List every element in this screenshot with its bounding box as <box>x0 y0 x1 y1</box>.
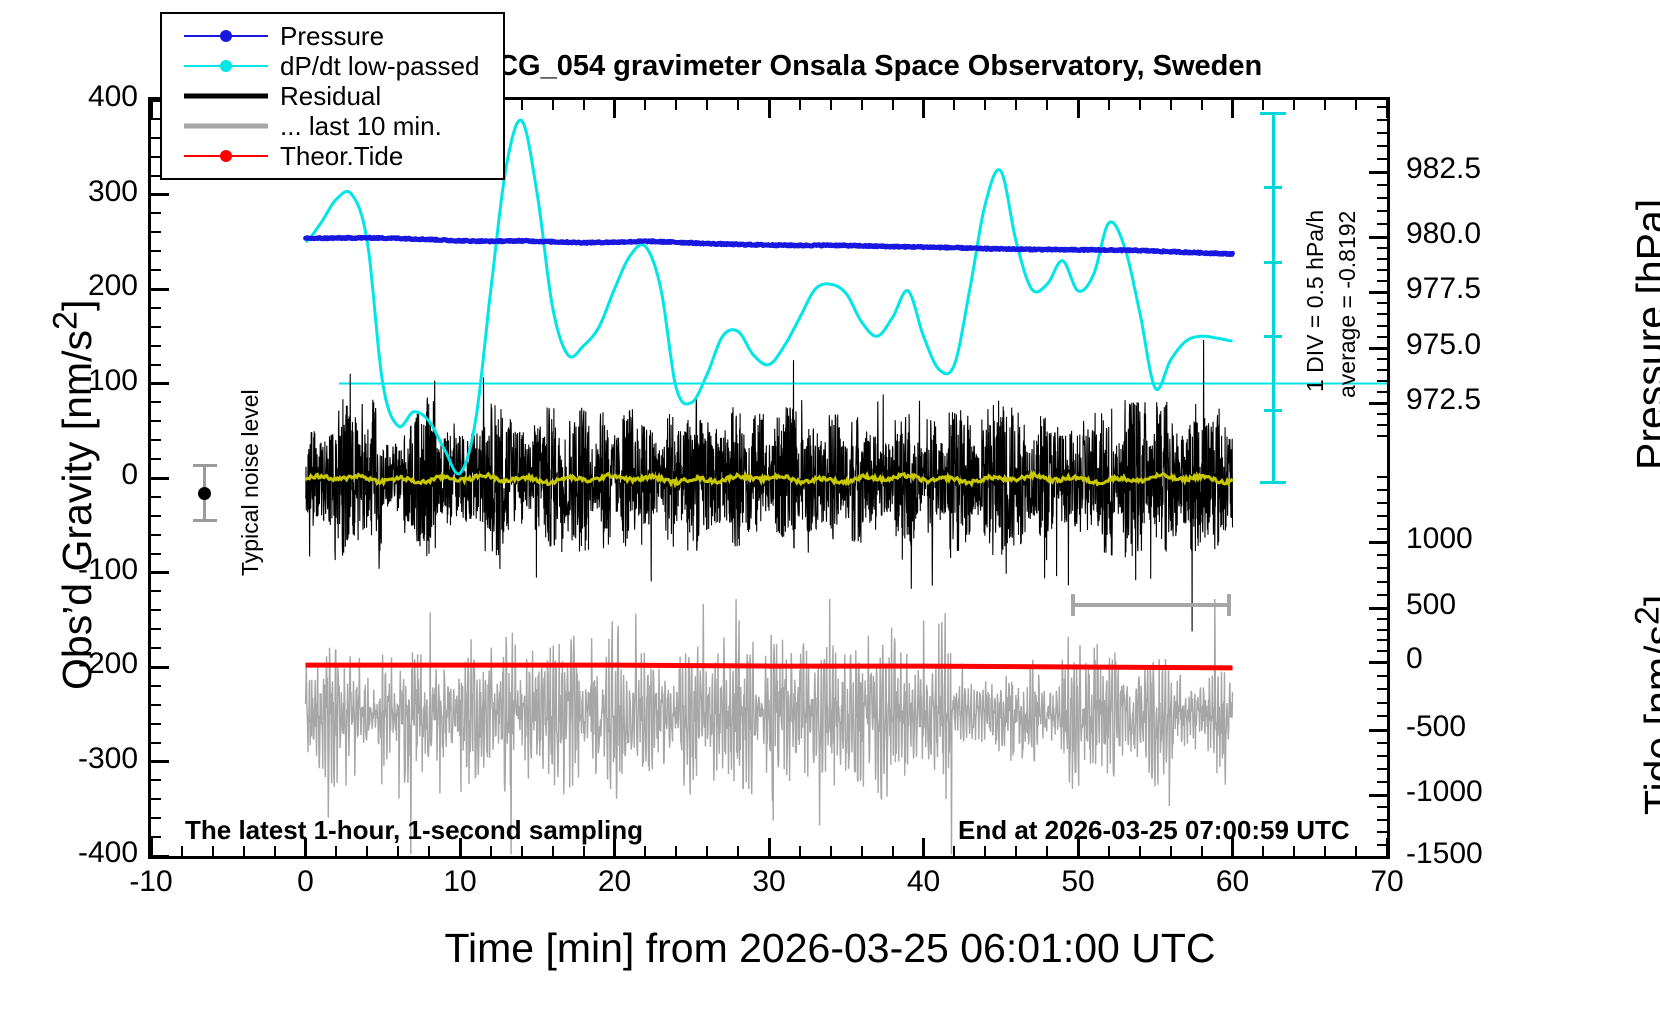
x-minor-tick-top <box>737 100 739 110</box>
tide-major-tick <box>1369 794 1387 797</box>
x-minor-tick <box>953 846 955 856</box>
x-axis-title-text: Time [min] from 2026-03-25 06:01:00 UTC <box>445 925 1216 971</box>
x-minor-tick <box>428 846 430 856</box>
x-minor-tick-top <box>984 100 986 110</box>
x-minor-tick <box>861 846 863 856</box>
legend-label-last10: ... last 10 min. <box>280 111 442 142</box>
x-minor-tick <box>830 846 832 856</box>
pressure-minor-tick <box>1377 391 1387 393</box>
tide-minor-tick <box>1377 702 1387 704</box>
pressure-minor-tick <box>1377 336 1387 338</box>
x-minor-tick-top <box>1139 100 1141 110</box>
y-left-minor-tick <box>151 401 161 403</box>
legend-item[interactable]: Pressure <box>162 22 503 50</box>
x-minor-tick <box>1170 846 1172 856</box>
tide-minor-tick <box>1377 715 1387 717</box>
x-minor-tick <box>1293 846 1295 856</box>
x-tick-label: -10 <box>91 865 211 899</box>
x-minor-tick-top <box>1108 100 1110 110</box>
x-minor-tick <box>397 846 399 856</box>
x-minor-tick-top <box>521 100 523 110</box>
tide-minor-tick <box>1377 629 1387 631</box>
x-major-tick <box>613 838 616 856</box>
tide-minor-tick <box>1377 528 1387 530</box>
y-left-minor-tick <box>151 723 161 725</box>
x-major-tick <box>922 838 925 856</box>
x-tick-label: 50 <box>1018 865 1138 899</box>
tide-tick-label: -1000 <box>1406 775 1576 809</box>
x-minor-tick <box>181 846 183 856</box>
y-left-minor-tick <box>151 307 161 309</box>
x-minor-tick-top <box>583 100 585 110</box>
x-minor-tick-top <box>1262 100 1264 110</box>
tide-major-tick <box>1369 541 1387 544</box>
x-major-tick <box>150 838 153 856</box>
y-right-top-axis-title: Pressure [hPa] <box>1628 199 1660 470</box>
y-left-minor-tick <box>151 628 161 630</box>
x-minor-tick <box>984 846 986 856</box>
pressure-major-tick <box>1369 347 1387 350</box>
y-right-bottom-axis-title: Tide [nm/s2] <box>1628 595 1660 815</box>
pressure-minor-tick <box>1377 258 1387 260</box>
tide-minor-tick <box>1377 688 1387 690</box>
pressure-minor-tick <box>1377 197 1387 199</box>
x-major-tick-top <box>1231 100 1234 118</box>
tide-minor-tick <box>1377 502 1387 504</box>
tide-major-tick <box>1369 607 1387 610</box>
tide-minor-tick <box>1377 831 1387 833</box>
tide-minor-tick <box>1377 742 1387 744</box>
x-minor-tick <box>644 846 646 856</box>
tide-minor-tick <box>1377 806 1387 808</box>
pressure-tick-label: 980.0 <box>1406 217 1576 251</box>
pressure-minor-tick <box>1377 369 1387 371</box>
pressure-major-tick <box>1369 171 1387 174</box>
x-minor-tick <box>335 846 337 856</box>
x-tick-label: 30 <box>709 865 829 899</box>
y-left-tick-label: 400 <box>0 80 138 114</box>
pressure-minor-tick <box>1377 269 1387 271</box>
y-left-minor-tick <box>151 439 161 441</box>
y-left-minor-tick <box>151 553 161 555</box>
pressure-tick-label: 982.5 <box>1406 152 1576 186</box>
y-left-minor-tick <box>151 798 161 800</box>
y-left-minor-tick <box>151 836 161 838</box>
pressure-tick-label: 977.5 <box>1406 272 1576 306</box>
x-major-tick-top <box>150 100 153 118</box>
x-minor-tick <box>1139 846 1141 856</box>
x-minor-tick-top <box>892 100 894 110</box>
y-left-minor-tick <box>151 515 161 517</box>
y-left-minor-tick <box>151 326 161 328</box>
y-left-minor-tick <box>151 590 161 592</box>
x-major-tick-top <box>768 100 771 118</box>
y-left-major-tick <box>151 382 169 385</box>
y-left-minor-tick <box>151 534 161 536</box>
x-tick-label: 20 <box>555 865 675 899</box>
y-left-major-tick <box>151 760 169 763</box>
x-minor-tick <box>1355 846 1357 856</box>
x-minor-tick <box>490 846 492 856</box>
x-tick-label: 0 <box>246 865 366 899</box>
x-minor-tick-top <box>1170 100 1172 110</box>
legend-item[interactable]: Residual <box>162 82 503 110</box>
pressure-minor-tick <box>1377 280 1387 282</box>
y-left-major-tick <box>151 193 169 196</box>
legend-label-pressure: Pressure <box>280 21 384 52</box>
tide-minor-tick <box>1377 554 1387 556</box>
x-minor-tick <box>212 846 214 856</box>
legend-swatch-dpdt <box>180 52 272 80</box>
pressure-minor-tick <box>1377 119 1387 121</box>
x-minor-tick <box>274 846 276 856</box>
tide-tick-label: -1500 <box>1406 837 1576 871</box>
pressure-tick-label: 972.5 <box>1406 383 1576 417</box>
pressure-minor-tick <box>1377 145 1387 147</box>
x-minor-tick-top <box>1293 100 1295 110</box>
legend-label-residual: Residual <box>280 81 381 112</box>
x-minor-tick-top <box>706 100 708 110</box>
x-minor-tick-top <box>861 100 863 110</box>
y-left-major-tick <box>151 855 169 858</box>
x-minor-tick-top <box>953 100 955 110</box>
y-left-minor-tick <box>151 212 161 214</box>
x-minor-tick <box>737 846 739 856</box>
pressure-minor-tick <box>1377 380 1387 382</box>
x-major-tick <box>1077 838 1080 856</box>
pressure-minor-tick <box>1377 106 1387 108</box>
y-left-tick-label: -300 <box>0 742 138 776</box>
pressure-tick-label: 975.0 <box>1406 328 1576 362</box>
x-major-tick-top <box>922 100 925 118</box>
tide-minor-tick <box>1377 639 1387 641</box>
legend-label-dpdt: dP/dt low-passed <box>280 51 479 82</box>
pressure-minor-tick <box>1377 435 1387 437</box>
x-minor-tick-top <box>1046 100 1048 110</box>
tide-tick-label: 500 <box>1406 588 1576 622</box>
tide-minor-tick <box>1377 594 1387 596</box>
legend-item[interactable]: Theor.Tide <box>162 142 503 170</box>
chart-root: SCG_054 gravimeter Onsala Space Observat… <box>0 0 1660 1020</box>
x-minor-tick <box>366 846 368 856</box>
y-left-tick-label: -400 <box>0 836 138 870</box>
pressure-major-tick <box>1369 236 1387 239</box>
tide-minor-tick <box>1377 618 1387 620</box>
pressure-minor-tick <box>1377 325 1387 327</box>
x-minor-tick-top <box>1324 100 1326 110</box>
tide-minor-tick <box>1377 650 1387 652</box>
x-minor-tick <box>552 846 554 856</box>
y-left-minor-tick <box>151 817 161 819</box>
x-minor-tick-top <box>675 100 677 110</box>
x-minor-tick <box>1201 846 1203 856</box>
x-minor-tick-top <box>552 100 554 110</box>
x-minor-tick <box>1108 846 1110 856</box>
tide-minor-tick <box>1377 476 1387 478</box>
pressure-minor-tick <box>1377 210 1387 212</box>
tide-minor-tick <box>1377 768 1387 770</box>
legend-item[interactable]: dP/dt low-passed <box>162 52 503 80</box>
x-minor-tick-top <box>1015 100 1017 110</box>
y-left-tick-label: 300 <box>0 175 138 209</box>
pressure-minor-tick <box>1377 302 1387 304</box>
x-major-tick <box>304 838 307 856</box>
pressure-minor-tick <box>1377 413 1387 415</box>
tide-major-tick <box>1369 856 1387 859</box>
y-left-minor-tick <box>151 779 161 781</box>
x-minor-tick-top <box>1201 100 1203 110</box>
y-left-major-tick <box>151 288 169 291</box>
x-minor-tick <box>1015 846 1017 856</box>
tide-minor-tick <box>1377 755 1387 757</box>
legend-swatch-residual <box>180 82 272 110</box>
x-minor-tick-top <box>799 100 801 110</box>
x-minor-tick <box>675 846 677 856</box>
y-left-minor-tick <box>151 420 161 422</box>
x-tick-label: 10 <box>400 865 520 899</box>
x-major-tick <box>1231 838 1234 856</box>
x-minor-tick <box>892 846 894 856</box>
tide-minor-tick <box>1377 844 1387 846</box>
x-major-tick-top <box>613 100 616 118</box>
x-minor-tick-top <box>830 100 832 110</box>
x-minor-tick <box>799 846 801 856</box>
y-left-minor-tick <box>151 364 161 366</box>
x-minor-tick <box>521 846 523 856</box>
legend-swatch-last10 <box>180 112 272 140</box>
y-left-tick-label: 200 <box>0 269 138 303</box>
legend-swatch-tide <box>180 142 272 170</box>
tide-minor-tick <box>1377 675 1387 677</box>
legend-label-tide: Theor.Tide <box>280 141 403 172</box>
y-left-minor-tick <box>151 496 161 498</box>
x-minor-tick <box>706 846 708 856</box>
x-major-tick <box>1386 838 1389 856</box>
legend: Pressure dP/dt low-passed Residual ... l… <box>160 12 505 180</box>
y-left-minor-tick <box>151 609 161 611</box>
tide-minor-tick <box>1377 781 1387 783</box>
pressure-minor-tick <box>1377 313 1387 315</box>
tide-major-tick <box>1369 729 1387 732</box>
tide-tick-label: 1000 <box>1406 522 1576 556</box>
pressure-axis-title-text: Pressure [hPa] <box>1628 199 1660 470</box>
tide-minor-tick <box>1377 515 1387 517</box>
pressure-minor-tick <box>1377 132 1387 134</box>
tide-tick-label: 0 <box>1406 642 1576 676</box>
pressure-minor-tick <box>1377 223 1387 225</box>
x-major-tick <box>459 838 462 856</box>
y-left-minor-tick <box>151 742 161 744</box>
x-tick-label: 60 <box>1173 865 1293 899</box>
x-minor-tick <box>1324 846 1326 856</box>
y-left-minor-tick <box>151 458 161 460</box>
tide-minor-tick <box>1377 567 1387 569</box>
x-tick-label: 40 <box>864 865 984 899</box>
tide-major-tick <box>1369 661 1387 664</box>
y-left-minor-tick <box>151 704 161 706</box>
pressure-minor-tick <box>1377 158 1387 160</box>
legend-swatch-pressure <box>180 22 272 50</box>
tide-minor-tick <box>1377 489 1387 491</box>
y-left-minor-tick <box>151 685 161 687</box>
x-major-tick-top <box>1077 100 1080 118</box>
tide-minor-tick <box>1377 819 1387 821</box>
legend-item[interactable]: ... last 10 min. <box>162 112 503 140</box>
x-minor-tick <box>1262 846 1264 856</box>
y-left-minor-tick <box>151 231 161 233</box>
tide-tick-label: -500 <box>1406 710 1576 744</box>
tide-minor-tick <box>1377 581 1387 583</box>
pressure-minor-tick <box>1377 184 1387 186</box>
y-left-minor-tick <box>151 345 161 347</box>
pressure-major-tick <box>1369 291 1387 294</box>
x-axis-title: Time [min] from 2026-03-25 06:01:00 UTC <box>0 925 1660 972</box>
x-major-tick-top <box>1386 100 1389 118</box>
y-left-major-tick <box>151 666 169 669</box>
x-major-tick <box>768 838 771 856</box>
pressure-minor-tick <box>1377 424 1387 426</box>
pressure-major-tick <box>1369 402 1387 405</box>
x-minor-tick <box>243 846 245 856</box>
x-minor-tick-top <box>644 100 646 110</box>
x-minor-tick-top <box>1355 100 1357 110</box>
y-left-minor-tick <box>151 647 161 649</box>
y-left-axis-title: Obs’d Gravity [nm/s2] <box>46 300 101 690</box>
y-left-major-tick <box>151 477 169 480</box>
y-left-minor-tick <box>151 269 161 271</box>
y-left-minor-tick <box>151 250 161 252</box>
pressure-minor-tick <box>1377 247 1387 249</box>
x-minor-tick <box>583 846 585 856</box>
y-left-major-tick <box>151 571 169 574</box>
pressure-minor-tick <box>1377 358 1387 360</box>
x-minor-tick <box>1046 846 1048 856</box>
